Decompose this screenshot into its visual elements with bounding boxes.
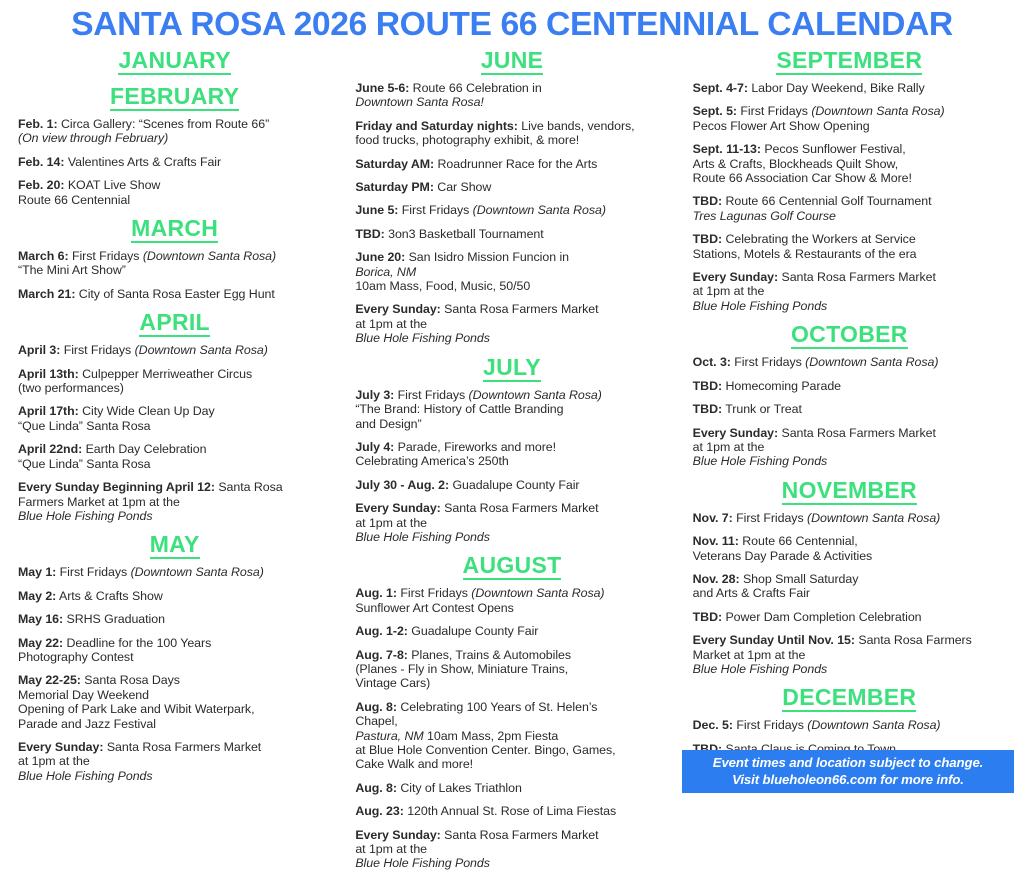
event-text: Pastura, NM	[355, 729, 423, 743]
calendar-event: TBD: Homecoming Parade	[693, 379, 1006, 393]
calendar-event: Aug. 8: Celebrating 100 Years of St. Hel…	[355, 700, 668, 772]
calendar-event: TBD: Celebrating the Workers at ServiceS…	[693, 232, 1006, 261]
calendar-event: TBD: 3on3 Basketball Tournament	[355, 227, 668, 241]
month-events-september: Sept. 4-7: Labor Day Weekend, Bike Rally…	[693, 81, 1006, 313]
event-date-label: Feb. 14:	[18, 155, 64, 169]
calendar-event: Aug. 7-8: Planes, Trains & Automobiles(P…	[355, 648, 668, 691]
event-text: Cake Walk and more!	[355, 757, 668, 771]
month-heading-label: FEBRUARY	[110, 84, 239, 111]
month-heading-april: APRIL	[18, 310, 331, 337]
month-events-october: Oct. 3: First Fridays (Downtown Santa Ro…	[693, 355, 1006, 468]
event-text: at Blue Hole Convention Center. Bingo, G…	[355, 743, 668, 757]
calendar-event: Nov. 28: Shop Small Saturdayand Arts & C…	[693, 572, 1006, 601]
event-text: Santa Rosa Farmers Market	[441, 828, 599, 842]
calendar-event: Saturday PM: Car Show	[355, 180, 668, 194]
event-date-label: July 4:	[355, 440, 394, 454]
calendar-event: TBD: Trunk or Treat	[693, 402, 1006, 416]
event-text: (On view through February)	[18, 131, 331, 145]
event-text: at 1pm at the	[693, 440, 1006, 454]
event-text: (Downtown Santa Rosa)	[471, 586, 604, 600]
event-text: First Fridays	[733, 718, 807, 732]
event-text: First Fridays	[397, 586, 471, 600]
calendar-event: Nov. 11: Route 66 Centennial,Veterans Da…	[693, 534, 1006, 563]
month-heading-label: JANUARY	[118, 48, 230, 75]
event-text: Route 66 Association Car Show & More!	[693, 171, 1006, 185]
event-text: Arts & Crafts, Blockheads Quilt Show,	[693, 157, 1006, 171]
event-date-label: Every Sunday:	[355, 828, 440, 842]
event-text: First Fridays	[731, 355, 805, 369]
calendar-event: May 2: Arts & Crafts Show	[18, 589, 331, 603]
event-text: SRHS Graduation	[63, 612, 165, 626]
event-text: and Arts & Crafts Fair	[693, 586, 1006, 600]
event-text: Guadalupe County Fair	[408, 624, 538, 638]
event-text: food trucks, photography exhibit, & more…	[355, 133, 668, 147]
calendar-event: July 30 - Aug. 2: Guadalupe County Fair	[355, 478, 668, 492]
month-events-february: Feb. 1: Circa Gallery: “Scenes from Rout…	[18, 117, 331, 207]
event-date-label: Aug. 23:	[355, 804, 403, 818]
event-text: Santa Rosa Farmers Market	[441, 302, 599, 316]
event-date-label: TBD:	[355, 227, 384, 241]
event-text: First Fridays	[56, 565, 130, 579]
event-text: Blue Hole Fishing Ponds	[355, 530, 490, 544]
month-heading-may: MAY	[18, 532, 331, 559]
calendar-event: July 4: Parade, Fireworks and more!Celeb…	[355, 440, 668, 469]
month-heading-label: SEPTEMBER	[776, 48, 922, 75]
event-text: Route 66 Centennial Golf Tournament	[722, 194, 931, 208]
event-text: Market at 1pm at the	[693, 648, 1006, 662]
event-date-label: Aug. 8:	[355, 781, 397, 795]
event-text: City Wide Clean Up Day	[79, 404, 215, 418]
event-text: Borica, NM	[355, 265, 668, 279]
event-text: Blue Hole Fishing Ponds	[693, 299, 828, 313]
event-text: Santa Rosa Farmers	[855, 633, 972, 647]
event-text: Blue Hole Fishing Ponds	[355, 331, 490, 345]
event-text: First Fridays	[398, 203, 472, 217]
month-heading-label: APRIL	[139, 310, 210, 337]
event-text: (Downtown Santa Rosa)	[811, 104, 944, 118]
month-heading-november: NOVEMBER	[693, 478, 1006, 505]
calendar-event: Sept. 11-13: Pecos Sunflower Festival,Ar…	[693, 142, 1006, 185]
event-date-label: Friday and Saturday nights:	[355, 119, 518, 133]
footer-banner: Event times and location subject to chan…	[682, 750, 1014, 793]
event-text: Santa Rosa Farmers Market	[441, 501, 599, 515]
event-text: (Downtown Santa Rosa)	[135, 343, 268, 357]
event-text: Celebrating 100 Years of St. Helen’s	[397, 700, 597, 714]
event-date-label: April 13th:	[18, 367, 79, 381]
event-date-label: Nov. 11:	[693, 534, 739, 548]
calendar-column-3: SEPTEMBERSept. 4-7: Labor Day Weekend, B…	[681, 46, 1018, 794]
calendar-event: Every Sunday: Santa Rosa Farmers Marketa…	[355, 828, 668, 871]
event-date-label: Every Sunday:	[693, 270, 778, 284]
calendar-event: April 3: First Fridays (Downtown Santa R…	[18, 343, 331, 357]
event-text: Celebrating the Workers at Service	[722, 232, 916, 246]
event-date-label: Aug. 1-2:	[355, 624, 408, 638]
event-text: Culpepper Merriweather Circus	[79, 367, 252, 381]
event-date-label: May 22-25:	[18, 673, 81, 687]
month-events-april: April 3: First Fridays (Downtown Santa R…	[18, 343, 331, 523]
calendar-event: April 17th: City Wide Clean Up Day“Que L…	[18, 404, 331, 433]
event-date-label: Every Sunday:	[693, 426, 778, 440]
month-heading-july: JULY	[355, 355, 668, 382]
calendar-event: May 22-25: Santa Rosa DaysMemorial Day W…	[18, 673, 331, 731]
event-text: Santa Rosa	[215, 480, 283, 494]
event-date-label: TBD:	[693, 379, 722, 393]
event-text: Downtown Santa Rosa!	[355, 95, 668, 109]
event-text: “The Brand: History of Cattle Branding	[355, 402, 668, 416]
event-text: Blue Hole Fishing Ponds	[693, 454, 828, 468]
event-text: Santa Rosa Farmers Market	[103, 740, 261, 754]
event-text: Tres Lagunas Golf Course	[693, 209, 1006, 223]
event-text: (Downtown Santa Rosa)	[131, 565, 264, 579]
month-heading-label: JUNE	[481, 48, 544, 75]
event-text: “The Mini Art Show”	[18, 263, 331, 277]
calendar-event: Aug. 23: 120th Annual St. Rose of Lima F…	[355, 804, 668, 818]
event-date-label: Saturday AM:	[355, 157, 434, 171]
month-events-july: July 3: First Fridays (Downtown Santa Ro…	[355, 388, 668, 545]
month-heading-label: MAY	[150, 532, 200, 559]
event-text: Arts & Crafts Show	[56, 589, 162, 603]
calendar-event: May 16: SRHS Graduation	[18, 612, 331, 626]
calendar-event: Aug. 8: City of Lakes Triathlon	[355, 781, 668, 795]
month-heading-label: DECEMBER	[782, 685, 916, 712]
event-text: City of Lakes Triathlon	[397, 781, 522, 795]
calendar-event: Every Sunday: Santa Rosa Farmers Marketa…	[355, 501, 668, 544]
calendar-event: June 5-6: Route 66 Celebration inDowntow…	[355, 81, 668, 110]
event-text: Planes, Trains & Automobiles	[408, 648, 571, 662]
event-text: Route 66 Centennial	[18, 193, 331, 207]
calendar-event: Feb. 1: Circa Gallery: “Scenes from Rout…	[18, 117, 331, 146]
event-text: Opening of Park Lake and Wibit Waterpark…	[18, 702, 331, 716]
event-date-label: Aug. 1:	[355, 586, 397, 600]
event-text: City of Santa Rosa Easter Egg Hunt	[75, 287, 274, 301]
calendar-event: March 6: First Fridays (Downtown Santa R…	[18, 249, 331, 278]
calendar-event: Aug. 1: First Fridays (Downtown Santa Ro…	[355, 586, 668, 615]
footer-banner-line-2: Visit blueholeon66.com for more info.	[688, 771, 1008, 788]
event-date-label: TBD:	[693, 402, 722, 416]
event-text: First Fridays	[69, 249, 143, 263]
event-text: at 1pm at the	[18, 754, 331, 768]
event-text: Roadrunner Race for the Arts	[434, 157, 597, 171]
event-text: (Planes - Fly in Show, Miniature Trains,	[355, 662, 668, 676]
month-heading-label: JULY	[483, 355, 541, 382]
event-text: Farmers Market at 1pm at the	[18, 495, 331, 509]
month-events-may: May 1: First Fridays (Downtown Santa Ros…	[18, 565, 331, 783]
event-text: at 1pm at the	[355, 317, 668, 331]
event-text: Stations, Motels & Restaurants of the er…	[693, 247, 1006, 261]
month-heading-august: AUGUST	[355, 553, 668, 580]
event-text: Photography Contest	[18, 650, 331, 664]
event-text: Power Dam Completion Celebration	[722, 610, 921, 624]
event-text: Sunflower Art Contest Opens	[355, 601, 668, 615]
event-text: 10am Mass, Food, Music, 50/50	[355, 279, 530, 293]
event-text: Live bands, vendors,	[518, 119, 635, 133]
event-text: Earth Day Celebration	[82, 442, 206, 456]
event-date-label: June 20:	[355, 250, 405, 264]
calendar-event: TBD: Route 66 Centennial Golf Tournament…	[693, 194, 1006, 223]
event-date-label: March 6:	[18, 249, 69, 263]
calendar-column-2: JUNEJune 5-6: Route 66 Celebration inDow…	[343, 46, 680, 871]
event-date-label: March 21:	[18, 287, 75, 301]
event-text: at 1pm at the	[355, 516, 668, 530]
calendar-event: Saturday AM: Roadrunner Race for the Art…	[355, 157, 668, 171]
event-text: at 1pm at the	[693, 284, 1006, 298]
calendar-event: Every Sunday: Santa Rosa Farmers Marketa…	[693, 270, 1006, 313]
event-text: Homecoming Parade	[722, 379, 841, 393]
calendar-event: Every Sunday Beginning April 12: Santa R…	[18, 480, 331, 523]
event-date-label: TBD:	[693, 194, 722, 208]
calendar-event: Every Sunday: Santa Rosa Farmers Marketa…	[693, 426, 1006, 469]
calendar-poster: SANTA ROSA 2026 ROUTE 66 CENTENNIAL CALE…	[0, 0, 1024, 794]
event-date-label: TBD:	[693, 232, 722, 246]
event-text: Labor Day Weekend, Bike Rally	[748, 81, 925, 95]
calendar-event: Sept. 4-7: Labor Day Weekend, Bike Rally	[693, 81, 1006, 95]
event-text: Pecos Sunflower Festival,	[761, 142, 906, 156]
event-date-label: Every Sunday:	[355, 501, 440, 515]
calendar-event: Feb. 14: Valentines Arts & Crafts Fair	[18, 155, 331, 169]
calendar-event: Feb. 20: KOAT Live ShowRoute 66 Centenni…	[18, 178, 331, 207]
month-heading-march: MARCH	[18, 216, 331, 243]
event-date-label: Every Sunday:	[18, 740, 103, 754]
event-text: Parade, Fireworks and more!	[394, 440, 556, 454]
calendar-event: Friday and Saturday nights: Live bands, …	[355, 119, 668, 148]
calendar-event: Dec. 5: First Fridays (Downtown Santa Ro…	[693, 718, 1006, 732]
event-text: Blue Hole Fishing Ponds	[18, 769, 153, 783]
event-text: (Downtown Santa Rosa)	[805, 355, 938, 369]
month-heading-label: AUGUST	[463, 553, 562, 580]
event-date-label: Dec. 5:	[693, 718, 733, 732]
event-text: Parade and Jazz Festival	[18, 717, 331, 731]
event-text: First Fridays	[60, 343, 134, 357]
event-date-label: May 2:	[18, 589, 56, 603]
month-heading-september: SEPTEMBER	[693, 48, 1006, 75]
event-text: (Downtown Santa Rosa)	[469, 388, 602, 402]
calendar-event: May 22: Deadline for the 100 YearsPhotog…	[18, 636, 331, 665]
event-text: Route 66 Celebration in	[409, 81, 541, 95]
event-text: Chapel,	[355, 714, 668, 728]
event-text: (Downtown Santa Rosa)	[143, 249, 276, 263]
event-date-label: Sept. 11-13:	[693, 142, 761, 156]
event-text: Celebrating America’s 250th	[355, 454, 668, 468]
calendar-event: June 5: First Fridays (Downtown Santa Ro…	[355, 203, 668, 217]
calendar-column-1: JANUARYFEBRUARYFeb. 1: Circa Gallery: “S…	[6, 46, 343, 783]
event-text: Deadline for the 100 Years	[63, 636, 211, 650]
event-date-label: May 1:	[18, 565, 56, 579]
event-text: and Design”	[355, 417, 668, 431]
event-text: KOAT Live Show	[64, 178, 160, 192]
calendar-event: Oct. 3: First Fridays (Downtown Santa Ro…	[693, 355, 1006, 369]
month-heading-june: JUNE	[355, 48, 668, 75]
event-date-label: Nov. 7:	[693, 511, 733, 525]
month-events-june: June 5-6: Route 66 Celebration inDowntow…	[355, 81, 668, 346]
event-text: (Downtown Santa Rosa)	[807, 511, 940, 525]
calendar-event: March 21: City of Santa Rosa Easter Egg …	[18, 287, 331, 301]
event-date-label: Every Sunday Beginning April 12:	[18, 480, 215, 494]
month-heading-february: FEBRUARY	[18, 84, 331, 111]
footer-banner-line-1: Event times and location subject to chan…	[688, 754, 1008, 771]
calendar-event: Nov. 7: First Fridays (Downtown Santa Ro…	[693, 511, 1006, 525]
event-date-label: Saturday PM:	[355, 180, 434, 194]
event-text: Blue Hole Fishing Ponds	[355, 856, 490, 870]
event-text: Pecos Flower Art Show Opening	[693, 119, 1006, 133]
calendar-event: April 13th: Culpepper Merriweather Circu…	[18, 367, 331, 396]
month-events-august: Aug. 1: First Fridays (Downtown Santa Ro…	[355, 586, 668, 871]
event-date-label: Feb. 1:	[18, 117, 58, 131]
event-text: Valentines Arts & Crafts Fair	[64, 155, 221, 169]
event-date-label: Nov. 28:	[693, 572, 740, 586]
event-date-label: Every Sunday Until Nov. 15:	[693, 633, 855, 647]
event-text: Vintage Cars)	[355, 676, 668, 690]
event-text: Santa Rosa Days	[81, 673, 180, 687]
page-title: SANTA ROSA 2026 ROUTE 66 CENTENNIAL CALE…	[0, 0, 1024, 46]
event-text: First Fridays	[733, 511, 807, 525]
event-text: Guadalupe County Fair	[449, 478, 579, 492]
event-date-label: June 5:	[355, 203, 398, 217]
month-events-november: Nov. 7: First Fridays (Downtown Santa Ro…	[693, 511, 1006, 677]
event-date-label: May 22:	[18, 636, 63, 650]
calendar-columns: JANUARYFEBRUARYFeb. 1: Circa Gallery: “S…	[0, 46, 1024, 871]
event-date-label: May 16:	[18, 612, 63, 626]
month-heading-label: NOVEMBER	[782, 478, 917, 505]
event-text: Shop Small Saturday	[740, 572, 859, 586]
event-text: “Que Linda” Santa Rosa	[18, 457, 331, 471]
event-text: Trunk or Treat	[722, 402, 802, 416]
event-text: Blue Hole Fishing Ponds	[693, 662, 828, 676]
event-date-label: April 17th:	[18, 404, 79, 418]
month-events-march: March 6: First Fridays (Downtown Santa R…	[18, 249, 331, 301]
event-text: (two performances)	[18, 381, 331, 395]
event-date-label: Aug. 7-8:	[355, 648, 408, 662]
event-date-label: Aug. 8:	[355, 700, 397, 714]
event-date-label: TBD:	[693, 610, 722, 624]
event-text: Route 66 Centennial,	[739, 534, 858, 548]
calendar-event: Aug. 1-2: Guadalupe County Fair	[355, 624, 668, 638]
event-text: Circa Gallery: “Scenes from Route 66”	[58, 117, 270, 131]
calendar-event: Every Sunday: Santa Rosa Farmers Marketa…	[355, 302, 668, 345]
event-date-label: Oct. 3:	[693, 355, 731, 369]
event-date-label: April 22nd:	[18, 442, 82, 456]
event-text: (Downtown Santa Rosa)	[473, 203, 606, 217]
event-text: Memorial Day Weekend	[18, 688, 331, 702]
event-date-label: Feb. 20:	[18, 178, 64, 192]
event-text: Blue Hole Fishing Ponds	[18, 509, 331, 523]
event-text: First Fridays	[394, 388, 468, 402]
event-text: “Que Linda” Santa Rosa	[18, 419, 331, 433]
event-text: (Downtown Santa Rosa)	[807, 718, 940, 732]
month-heading-december: DECEMBER	[693, 685, 1006, 712]
calendar-event: July 3: First Fridays (Downtown Santa Ro…	[355, 388, 668, 431]
event-text: at 1pm at the	[355, 842, 668, 856]
event-text: 10am Mass, 2pm Fiesta	[424, 729, 559, 743]
event-date-label: June 5-6:	[355, 81, 409, 95]
event-date-label: July 3:	[355, 388, 394, 402]
calendar-event: Every Sunday: Santa Rosa Farmers Marketa…	[18, 740, 331, 783]
event-text: 3on3 Basketball Tournament	[385, 227, 544, 241]
month-heading-october: OCTOBER	[693, 322, 1006, 349]
event-date-label: Sept. 4-7:	[693, 81, 748, 95]
event-date-label: April 3:	[18, 343, 60, 357]
event-text: San Isidro Mission Funcion in	[405, 250, 569, 264]
event-date-label: Every Sunday:	[355, 302, 440, 316]
calendar-event: Sept. 5: First Fridays (Downtown Santa R…	[693, 104, 1006, 133]
calendar-event: Every Sunday Until Nov. 15: Santa Rosa F…	[693, 633, 1006, 676]
event-text: Santa Rosa Farmers Market	[778, 426, 936, 440]
event-date-label: July 30 - Aug. 2:	[355, 478, 449, 492]
calendar-event: April 22nd: Earth Day Celebration“Que Li…	[18, 442, 331, 471]
calendar-event: June 20: San Isidro Mission Funcion inBo…	[355, 250, 668, 293]
month-heading-january: JANUARY	[18, 48, 331, 75]
calendar-event: May 1: First Fridays (Downtown Santa Ros…	[18, 565, 331, 579]
event-text: 120th Annual St. Rose of Lima Fiestas	[404, 804, 616, 818]
month-heading-label: OCTOBER	[791, 322, 908, 349]
event-text: Santa Rosa Farmers Market	[778, 270, 936, 284]
event-text: First Fridays	[737, 104, 811, 118]
month-heading-label: MARCH	[131, 216, 218, 243]
event-date-label: Sept. 5:	[693, 104, 737, 118]
calendar-event: TBD: Power Dam Completion Celebration	[693, 610, 1006, 624]
event-text: Veterans Day Parade & Activities	[693, 549, 1006, 563]
event-text: Car Show	[434, 180, 491, 194]
